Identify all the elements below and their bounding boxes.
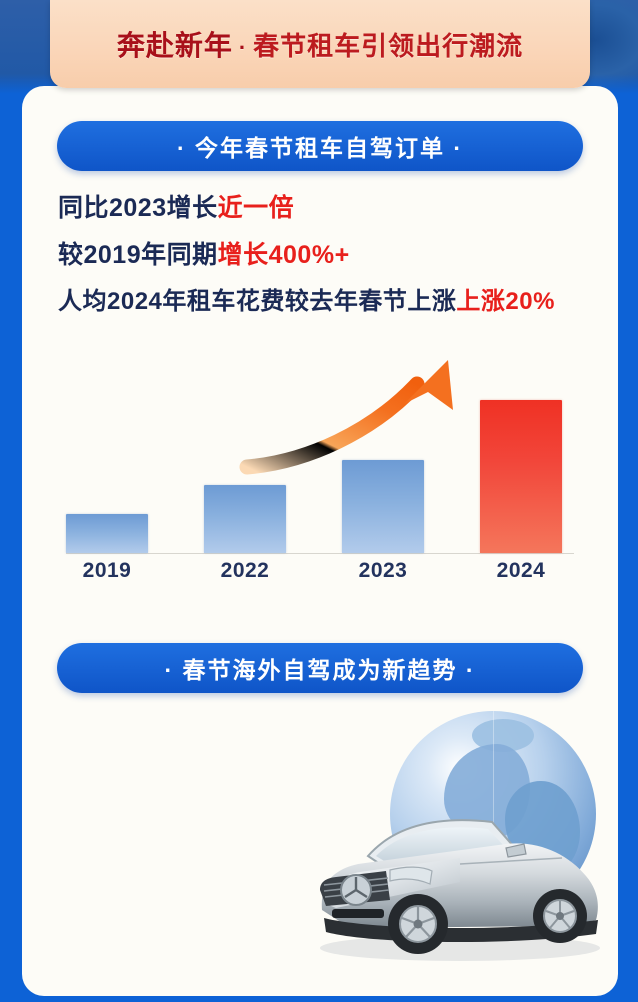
orders-bar-chart: 2019 2022 2023 2024 [62, 354, 578, 586]
section-header-orders-label: · 今年春节租车自驾订单 · [177, 129, 463, 163]
bar-label-2019: 2019 [66, 559, 148, 583]
bar-2019 [66, 514, 148, 553]
bar-label-2023: 2023 [342, 559, 424, 583]
bar-2022 [204, 485, 286, 553]
title-sub-text: 春节租车引领出行潮流 [253, 31, 523, 61]
bar-group-2022: 2022 [204, 485, 286, 553]
chart-bars: 2019 2022 2023 2024 [62, 357, 578, 553]
stat-line: 同比2023增长近一倍 [58, 196, 604, 221]
statistics-list: 同比2023增长近一倍 较2019年同期增长400%+ 人均2024年租车花费较… [58, 196, 604, 314]
bar-group-2023: 2023 [342, 460, 424, 553]
stat-line: 人均2024年租车花费较去年春节上涨上涨20% [58, 290, 604, 314]
stat-prefix: 较2019年同期 [58, 241, 218, 269]
title-banner: 奔赴新年·春节租车引领出行潮流 [50, 0, 590, 88]
bar-group-2019: 2019 [66, 514, 148, 553]
section-header-overseas: · 春节海外自驾成为新趋势 · [57, 643, 583, 693]
stat-prefix: 同比2023增长 [58, 194, 218, 222]
stat-prefix: 人均2024年租车花费较去年春节上涨 [58, 288, 456, 315]
car-icon [310, 778, 610, 968]
bar-group-2024: 2024 [480, 400, 562, 553]
stat-line: 较2019年同期增长400%+ [58, 243, 604, 268]
stat-highlight: 增长400%+ [218, 241, 350, 269]
page-title: 奔赴新年·春节租车引领出行潮流 [117, 24, 523, 64]
chart-baseline [66, 553, 574, 554]
stat-highlight: 近一倍 [218, 194, 295, 222]
section-header-overseas-label: · 春节海外自驾成为新趋势 · [164, 651, 475, 685]
content-card: · 今年春节租车自驾订单 · 同比2023增长近一倍 较2019年同期增长400… [22, 86, 618, 996]
section-header-orders: · 今年春节租车自驾订单 · [57, 121, 583, 171]
bar-label-2024: 2024 [480, 559, 562, 583]
title-main-text: 奔赴新年 [117, 30, 233, 61]
stat-highlight: 上涨20% [456, 288, 555, 315]
title-separator: · [233, 35, 253, 60]
infographic-poster: 奔赴新年·春节租车引领出行潮流 · 今年春节租车自驾订单 · 同比2023增长近… [0, 0, 638, 1002]
bar-label-2022: 2022 [204, 559, 286, 583]
bar-2024 [480, 400, 562, 553]
bar-2023 [342, 460, 424, 553]
